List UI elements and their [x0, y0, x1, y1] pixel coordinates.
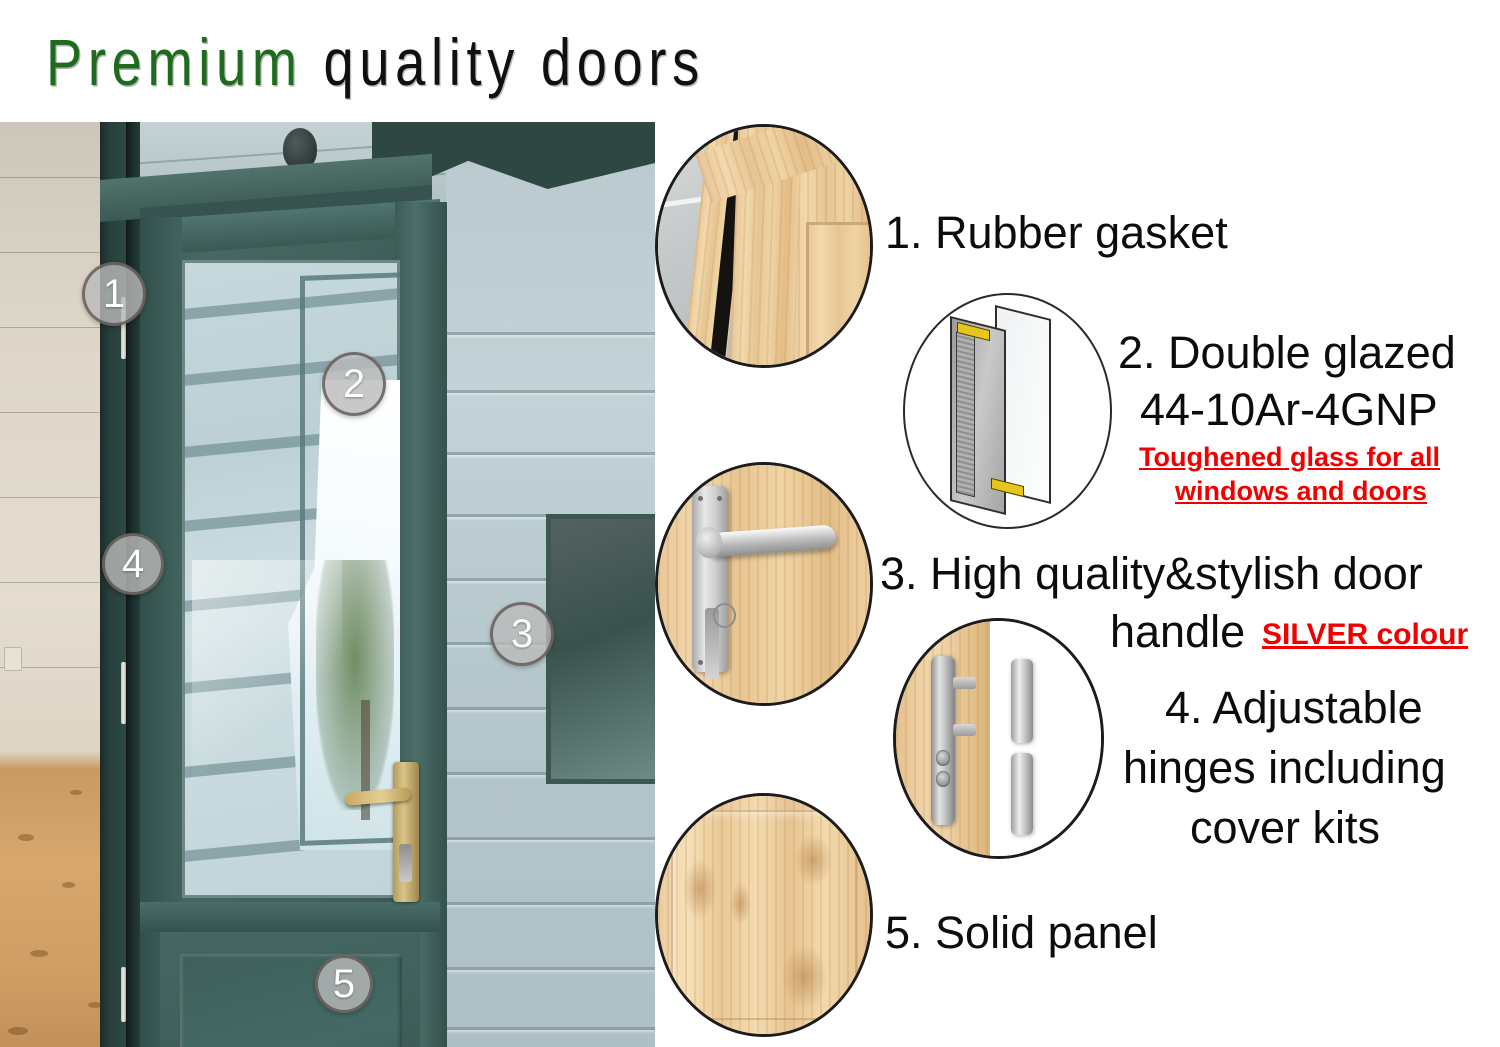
marker-4-number: 4 — [122, 544, 144, 584]
detail-2-heading-line2: 44-10Ar-4GNP — [1140, 382, 1438, 437]
door-hinge-bottom — [121, 967, 126, 1022]
marker-3-number: 3 — [511, 614, 533, 654]
marker-5-number: 5 — [333, 964, 355, 1004]
adjustable-hinge-photo — [893, 618, 1104, 859]
marker-5[interactable]: 5 — [315, 955, 373, 1013]
detail-3-heading-line2: handle — [1110, 604, 1245, 659]
side-window — [546, 514, 655, 784]
page-title-bar: Premium quality doors — [0, 0, 1500, 120]
detail-2-heading-line1: 2. Double glazed — [1118, 325, 1456, 380]
double-glazing-diagram — [903, 293, 1112, 529]
detail-2-sub-line2: windows and doors — [1175, 474, 1427, 508]
hinge-body — [931, 656, 956, 825]
main-door-photo — [0, 122, 655, 1047]
title-highlight-word: Premium — [46, 25, 303, 99]
marker-2[interactable]: 2 — [322, 352, 386, 416]
detail-4-heading-line3: cover kits — [1190, 800, 1380, 855]
detail-2-sub-line1: Toughened glass for all — [1139, 440, 1440, 474]
spacer-bar — [956, 331, 975, 497]
solid-panel-photo — [655, 793, 873, 1037]
rubber-gasket-photo — [655, 124, 873, 368]
door-key — [399, 844, 412, 882]
glass-sheen — [192, 560, 342, 820]
marker-1[interactable]: 1 — [82, 262, 146, 326]
door-mid-rail — [140, 902, 440, 932]
marker-2-number: 2 — [343, 364, 365, 404]
detail-1-heading: 1. Rubber gasket — [885, 205, 1228, 260]
marker-1-number: 1 — [103, 274, 125, 314]
detail-4-heading-line1: 4. Adjustable — [1165, 680, 1423, 735]
detail-5-heading: 5. Solid panel — [885, 905, 1158, 960]
detail-3-sub-inline: SILVER colour — [1262, 618, 1468, 652]
page-title: Premium quality doors — [46, 27, 705, 97]
hinge-cover-cap-bottom — [1011, 753, 1034, 835]
hinge-cover-cap-top — [1011, 659, 1034, 744]
detail-4-heading-line2: hinges including — [1123, 740, 1446, 795]
wall-socket — [4, 647, 22, 671]
marker-3[interactable]: 3 — [490, 602, 554, 666]
handle-rose — [696, 527, 721, 558]
title-rest-text: quality doors — [303, 25, 705, 99]
detail-3-heading-line1: 3. High quality&stylish door — [880, 546, 1423, 601]
door-hinge-lower — [121, 662, 126, 724]
marker-4[interactable]: 4 — [102, 533, 164, 595]
door-handle-photo — [655, 462, 873, 706]
